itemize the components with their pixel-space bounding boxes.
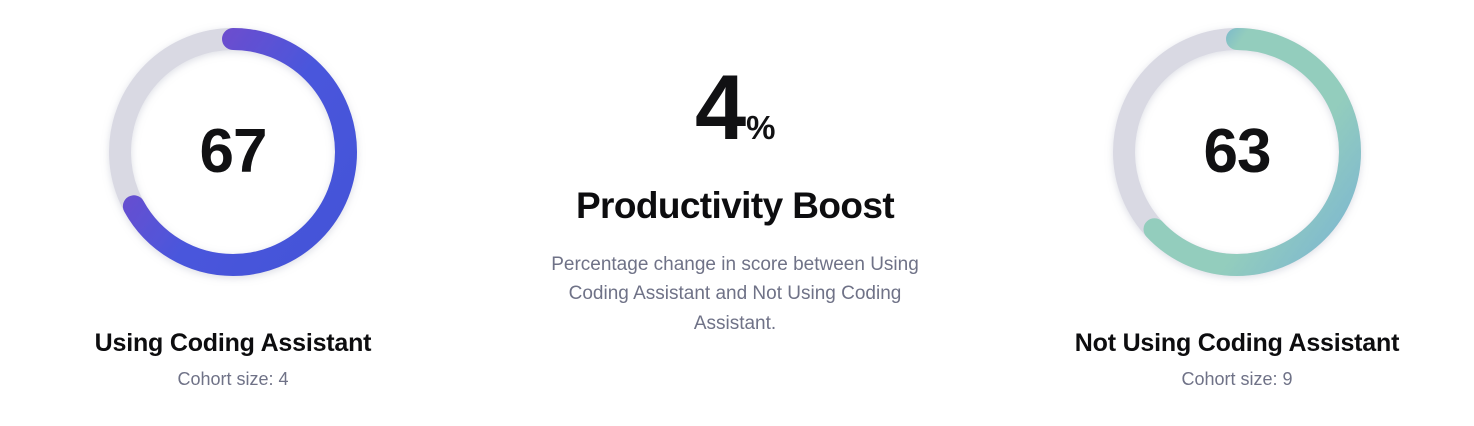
gauge-cohort-left: Cohort size: 4 [95,368,372,391]
productivity-comparison: 67 Using Coding Assistant Cohort size: 4… [0,0,1474,426]
gauge-caption-left: Using Coding Assistant Cohort size: 4 [95,328,372,391]
gauge-panel-not-using-coding-assistant: 63 Not Using Coding Assistant Cohort siz… [1004,0,1470,391]
delta-unit: % [746,111,775,144]
gauge-value-left: 67 [99,18,367,286]
gauge-not-using-coding-assistant: 63 [1103,18,1371,286]
delta-number: 4 [695,62,743,154]
center-heading: Productivity Boost [576,186,894,227]
center-description: Percentage change in score between Using… [535,250,935,338]
gauge-value-right: 63 [1103,18,1371,286]
gauge-title-right: Not Using Coding Assistant [1075,328,1399,358]
gauge-cohort-right: Cohort size: 9 [1075,368,1399,391]
delta-value-row: 4 % [695,62,775,154]
center-summary-panel: 4 % Productivity Boost Percentage change… [500,0,970,338]
gauge-caption-right: Not Using Coding Assistant Cohort size: … [1075,328,1399,391]
gauge-panel-using-coding-assistant: 67 Using Coding Assistant Cohort size: 4 [0,0,466,391]
gauge-title-left: Using Coding Assistant [95,328,372,358]
gauge-using-coding-assistant: 67 [99,18,367,286]
